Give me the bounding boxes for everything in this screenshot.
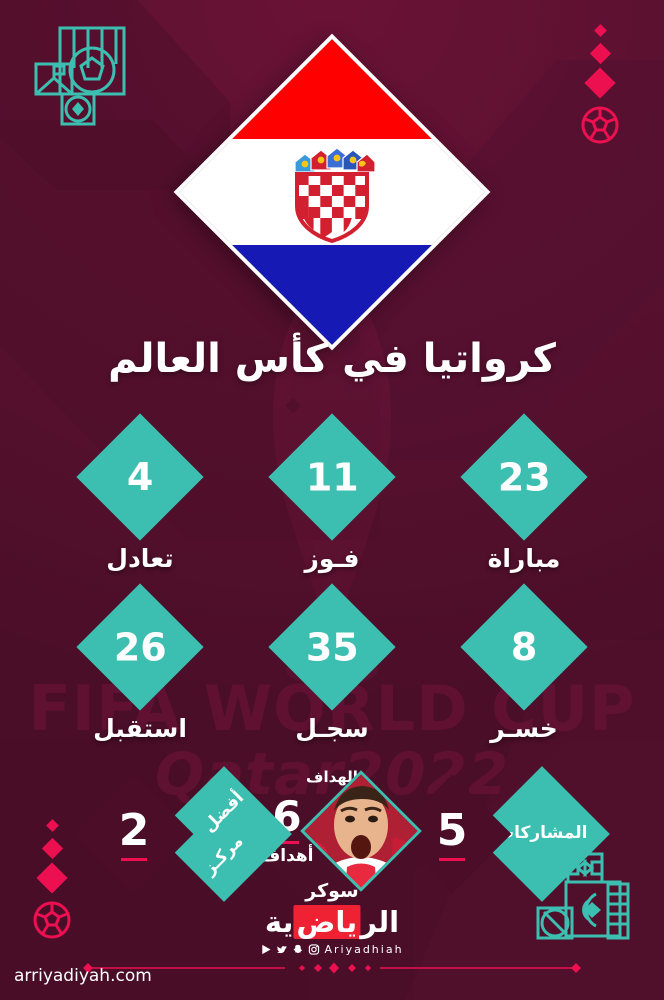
social-handle-text: Ariyadhiah — [324, 943, 403, 956]
stat-participations: المشاركات 5 — [410, 786, 590, 882]
stat-diamond: 26 — [76, 583, 203, 710]
social-handle-row: Ariyadhiah — [260, 943, 403, 956]
stat-goals-conceded: 26 استقبل — [70, 602, 210, 743]
diamond-dot-large — [584, 67, 615, 98]
stat-draws: 4 تعادل — [70, 432, 210, 573]
website-url: arriyadiyah.com — [14, 966, 152, 986]
player-portrait-icon — [300, 770, 422, 892]
stat-label: مباراة — [454, 544, 594, 573]
stat-diamond: 11 — [268, 413, 395, 540]
stat-diamond: 8 — [460, 583, 587, 710]
stat-diamond: 4 — [76, 413, 203, 540]
page-title: كرواتيا في كأس العالم — [0, 336, 664, 382]
stat-goals-scored: 35 سجـل — [262, 602, 402, 743]
stat-wins: 11 فـوز — [262, 432, 402, 573]
stadium-ball-ornament-icon — [22, 22, 134, 130]
stats-row-two: 8 خسـر 35 سجـل 26 استقبل — [0, 602, 664, 743]
best-position-value-diamond: 2 — [92, 792, 176, 876]
stats-row-one: 23 مباراة 11 فـوز 4 تعادل — [0, 432, 664, 573]
stat-value: 26 — [114, 628, 167, 666]
twitter-icon[interactable] — [276, 944, 287, 955]
stat-label: استقبل — [70, 714, 210, 743]
snapchat-icon[interactable] — [292, 944, 303, 955]
stat-label: فـوز — [262, 544, 402, 573]
croatia-flag-diamond — [220, 80, 444, 304]
stat-label: سجـل — [262, 714, 402, 743]
stat-best-position: أفضلمركـز 2 — [92, 786, 272, 882]
stat-value: 4 — [127, 458, 153, 496]
stat-value: 23 — [498, 458, 551, 496]
stat-value: 8 — [511, 628, 537, 666]
participations-value: 5 — [437, 809, 468, 859]
stat-value: 35 — [306, 628, 359, 666]
flag-band-red — [174, 34, 491, 139]
best-position-value: 2 — [119, 809, 150, 859]
stat-diamond: 35 — [268, 583, 395, 710]
youtube-icon[interactable] — [260, 944, 271, 955]
stat-losses: 8 خسـر — [454, 602, 594, 743]
infographic-poster: FIFA WORLD CUP Qatar2022 — [0, 0, 664, 1000]
bottom-stats-row: المشاركات 5 الهداف — [0, 772, 664, 912]
stat-diamond: 23 — [460, 413, 587, 540]
decoration-dots-top-right — [580, 26, 620, 145]
brand-logo[interactable]: الرياضية Ariyadhiah — [260, 905, 403, 956]
soccer-ball-icon — [580, 105, 620, 145]
stat-label: خسـر — [454, 714, 594, 743]
top-scorer-name: سوكر — [227, 880, 437, 902]
stat-label: تعادل — [70, 544, 210, 573]
top-scorer-photo — [300, 770, 422, 892]
croatia-coat-of-arms-icon — [289, 140, 375, 244]
instagram-icon[interactable] — [308, 944, 319, 955]
stat-matches: 23 مباراة — [454, 432, 594, 573]
stat-value: 11 — [306, 458, 359, 496]
diamond-dot-medium — [589, 43, 610, 64]
brand-logo-text: الرياضية — [265, 905, 399, 939]
diamond-dot-small — [594, 24, 607, 37]
